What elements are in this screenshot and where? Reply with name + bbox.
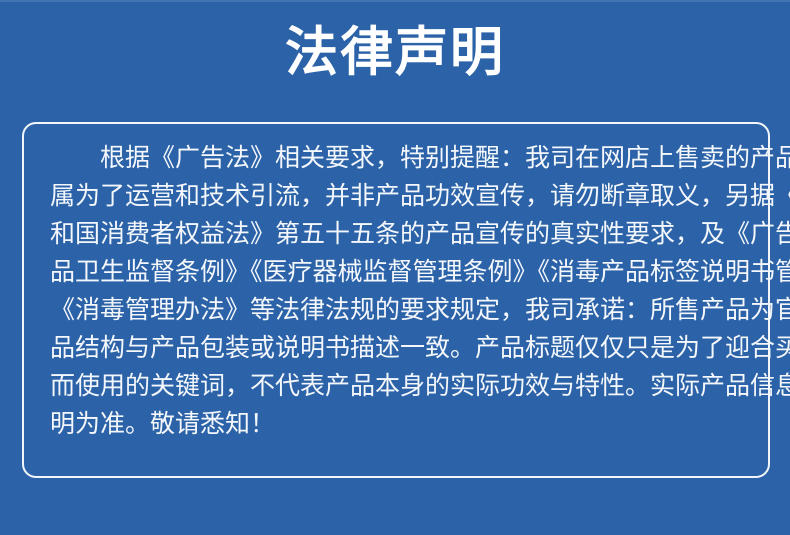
notice-line: 属为了运营和技术引流，并非产品功效宣传，请勿断章取义，另据《中华人民共: [50, 178, 748, 216]
notice-line: 品卫生监督条例》《医疗器械监督管理条例》《消毒产品标签说明书管理规范》: [50, 254, 748, 292]
notice-line: 品结构与产品包装或说明书描述一致。产品标题仅仅只是为了迎合买家搜索习惯: [50, 330, 748, 368]
notice-line: 明为准。敬请悉知！: [50, 406, 748, 444]
legal-notice-poster: 法律声明 根据《广告法》相关要求，特别提醒：我司在网店上售卖的产品标题纯 属为了…: [0, 0, 790, 535]
notice-text-body: 根据《广告法》相关要求，特别提醒：我司在网店上售卖的产品标题纯 属为了运营和技术…: [50, 140, 748, 444]
notice-line: 根据《广告法》相关要求，特别提醒：我司在网店上售卖的产品标题纯: [50, 140, 748, 178]
page-title: 法律声明: [0, 22, 790, 84]
notice-border-box: 根据《广告法》相关要求，特别提醒：我司在网店上售卖的产品标题纯 属为了运营和技术…: [22, 122, 770, 478]
notice-line: 《消毒管理办法》等法律法规的要求规定，我司承诺：所售产品为官方授权，产: [50, 292, 748, 330]
notice-line: 而使用的关键词，不代表产品本身的实际功效与特性。实际产品信息以包装盒说: [50, 368, 748, 406]
top-hairline-divider: [0, 0, 790, 2]
notice-line: 和国消费者权益法》第五十五条的产品宣传的真实性要求，及《广告法》《化妆: [50, 216, 748, 254]
